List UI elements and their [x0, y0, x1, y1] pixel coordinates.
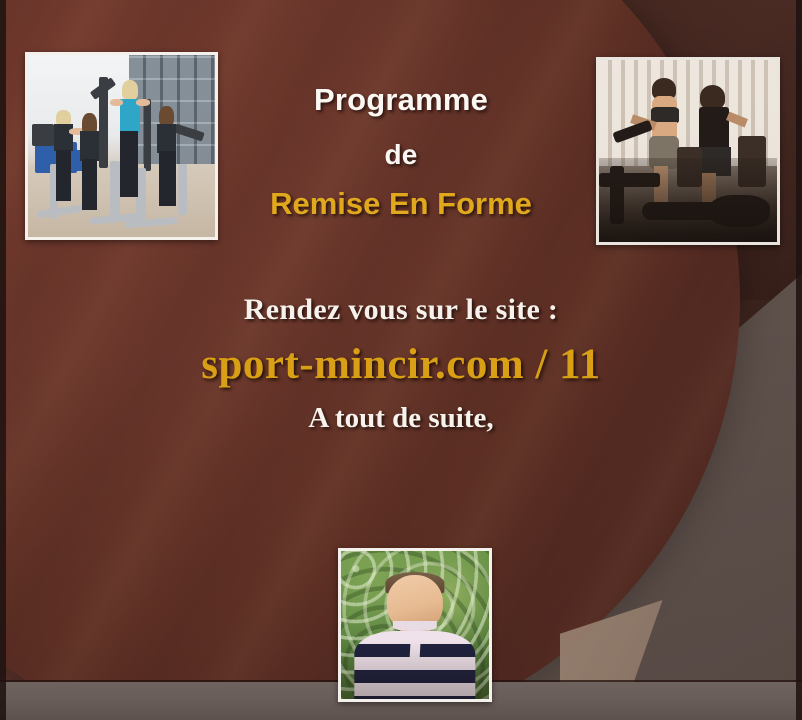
headline-line-3-accent: Remise En Forme — [0, 186, 802, 222]
portrait-scene — [341, 551, 489, 699]
cta-closing-text: A tout de suite, — [0, 402, 802, 435]
headline-line-1: Programme — [0, 82, 802, 118]
headline-line-2: de — [0, 139, 802, 171]
video-slide: Programme de Remise En Forme Rendez vous… — [0, 0, 802, 720]
cta-website-url[interactable]: sport-mincir.com / 11 — [0, 340, 802, 389]
presenter-portrait-photo — [338, 548, 492, 702]
portrait-vignette — [341, 551, 489, 699]
cta-intro-text: Rendez vous sur le site : — [0, 293, 802, 327]
